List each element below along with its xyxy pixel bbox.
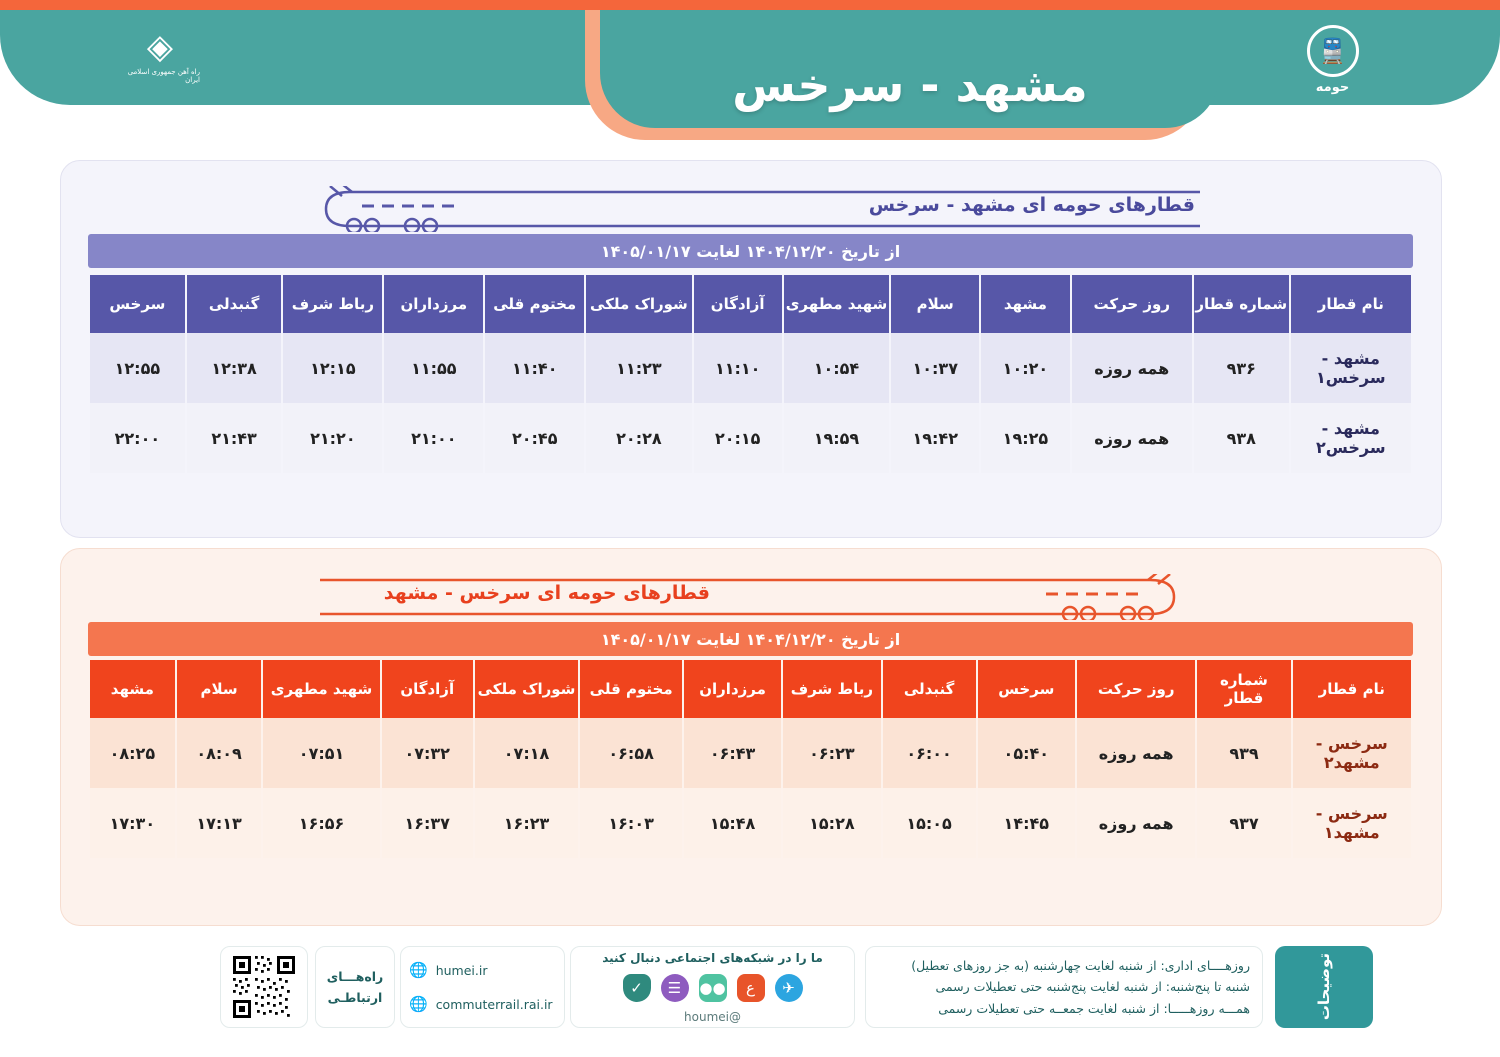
eitaa-icon[interactable]: ع bbox=[737, 974, 765, 1002]
cell-time: ۰۸:۲۵ bbox=[90, 718, 175, 788]
cell-time: ۰۶:۰۰ bbox=[883, 718, 976, 788]
infographic-page: مشهد - سرخس ◈ راه آهن جمهوری اسلامی ایرا… bbox=[0, 0, 1500, 1057]
cell-time: ۰۶:۵۸ bbox=[580, 718, 682, 788]
cell-time: ۲۰:۱۵ bbox=[694, 403, 782, 473]
cell-time: ۱۷:۱۳ bbox=[177, 788, 262, 858]
cell-time: ۱۱:۱۰ bbox=[694, 333, 782, 403]
notes-tab-label: توضیحات bbox=[1275, 946, 1373, 1028]
col-header-station-7: آزادگان bbox=[382, 660, 473, 718]
table-header-row: نام قطار شماره قطار روز حرکت مشهد سلام ش… bbox=[90, 275, 1411, 333]
col-header-train-number: شماره قطار bbox=[1197, 660, 1290, 718]
cell-time: ۱۰:۳۷ bbox=[891, 333, 979, 403]
cell-time: ۰۷:۵۱ bbox=[263, 718, 379, 788]
cell-travel-day: همه روزه bbox=[1072, 333, 1192, 403]
col-header-station-2: سلام bbox=[891, 275, 979, 333]
social-caption: ما را در شبکه‌های اجتماعی دنبال کنید bbox=[602, 951, 823, 965]
col-header-station-5: شوراک ملکی bbox=[586, 275, 691, 333]
cell-train-name: مشهد - سرخس۲ bbox=[1291, 403, 1411, 473]
section-title-sarakhs-mashhad: قطارهای حومه ای سرخس - مشهد bbox=[384, 582, 710, 604]
note-line-office-days: روزهــــای اداری: از شنبه لغایت چهارشنبه… bbox=[878, 958, 1250, 973]
cell-travel-day: همه روزه bbox=[1077, 718, 1195, 788]
notes-tab-text: توضیحات bbox=[1315, 953, 1333, 1020]
cell-time: ۱۰:۵۴ bbox=[784, 333, 889, 403]
table-row: سرخس - مشهد۲ ۹۳۹ همه روزه ۰۵:۴۰ ۰۶:۰۰ ۰۶… bbox=[90, 718, 1411, 788]
col-header-station-7: مرزداران bbox=[384, 275, 483, 333]
cell-time: ۱۹:۲۵ bbox=[981, 403, 1069, 473]
website-url-2: commuterrail.rai.ir bbox=[436, 997, 553, 1012]
cell-time: ۲۱:۴۳ bbox=[187, 403, 282, 473]
cell-travel-day: همه روزه bbox=[1072, 403, 1192, 473]
notes-box: روزهــــای اداری: از شنبه لغایت چهارشنبه… bbox=[865, 946, 1263, 1028]
train-circle-icon: 🚆 bbox=[1307, 25, 1359, 77]
col-header-travel-day: روز حرکت bbox=[1077, 660, 1195, 718]
col-header-station-3: شهید مطهری bbox=[784, 275, 889, 333]
cell-time: ۱۵:۰۵ bbox=[883, 788, 976, 858]
contact-ways-label: راه‌هـــای ارتباطـی bbox=[315, 946, 395, 1028]
qr-code-box[interactable] bbox=[220, 946, 308, 1028]
col-header-station-8: شهید مطهری bbox=[263, 660, 379, 718]
cell-time: ۲۱:۲۰ bbox=[283, 403, 382, 473]
col-header-train-number: شماره قطار bbox=[1194, 275, 1289, 333]
cell-time: ۱۴:۴۵ bbox=[978, 788, 1075, 858]
col-header-station-9: سلام bbox=[177, 660, 262, 718]
cell-time: ۲۰:۲۸ bbox=[586, 403, 691, 473]
cell-train-number: ۹۳۹ bbox=[1197, 718, 1290, 788]
qr-code-icon bbox=[231, 954, 297, 1020]
cell-time: ۲۰:۴۵ bbox=[485, 403, 584, 473]
col-header-station-6: مختوم قلی bbox=[485, 275, 584, 333]
col-header-station-1: سرخس bbox=[978, 660, 1075, 718]
bale-icon[interactable]: ●● bbox=[699, 974, 727, 1002]
cell-time: ۱۵:۴۸ bbox=[684, 788, 781, 858]
footer: توضیحات روزهــــای اداری: از شنبه لغایت … bbox=[60, 938, 1442, 1043]
cell-time: ۲۲:۰۰ bbox=[90, 403, 185, 473]
table-row: مشهد - سرخس۲ ۹۳۸ همه روزه ۱۹:۲۵ ۱۹:۴۲ ۱۹… bbox=[90, 403, 1411, 473]
telegram-icon[interactable]: ✈ bbox=[775, 974, 803, 1002]
cell-time: ۱۷:۳۰ bbox=[90, 788, 175, 858]
cell-time: ۰۶:۲۳ bbox=[783, 718, 880, 788]
col-header-station-8: رباط شرف bbox=[283, 275, 382, 333]
schedule-table-mashhad-sarakhs: نام قطار شماره قطار روز حرکت مشهد سلام ش… bbox=[88, 275, 1413, 473]
cell-time: ۱۲:۱۵ bbox=[283, 333, 382, 403]
rai-logo: ◈ راه آهن جمهوری اسلامی ایران bbox=[120, 22, 200, 92]
page-title: مشهد - سرخس bbox=[600, 58, 1220, 112]
cell-train-name: سرخس - مشهد۱ bbox=[1293, 788, 1411, 858]
cell-time: ۱۱:۴۰ bbox=[485, 333, 584, 403]
cell-train-name: مشهد - سرخس۱ bbox=[1291, 333, 1411, 403]
contact-label-line-1: راه‌هـــای bbox=[327, 966, 384, 987]
soroush-icon[interactable]: ✓ bbox=[623, 974, 651, 1002]
table-header-row: نام قطار شماره قطار روز حرکت سرخس گنبدلی… bbox=[90, 660, 1411, 718]
cell-time: ۰۷:۱۸ bbox=[475, 718, 579, 788]
col-header-station-5: مختوم قلی bbox=[580, 660, 682, 718]
col-header-station-2: گنبدلی bbox=[883, 660, 976, 718]
col-header-travel-day: روز حرکت bbox=[1072, 275, 1192, 333]
cell-time: ۱۶:۲۳ bbox=[475, 788, 579, 858]
cell-time: ۲۱:۰۰ bbox=[384, 403, 483, 473]
col-header-station-3: رباط شرف bbox=[783, 660, 880, 718]
cell-train-name: سرخس - مشهد۲ bbox=[1293, 718, 1411, 788]
cell-train-number: ۹۳۸ bbox=[1194, 403, 1289, 473]
header-orange-stripe bbox=[0, 0, 1500, 10]
cell-time: ۰۷:۳۲ bbox=[382, 718, 473, 788]
website-row-1[interactable]: 🌐 humei.ir bbox=[409, 961, 556, 979]
rai-logo-caption: راه آهن جمهوری اسلامی ایران bbox=[120, 68, 200, 84]
note-line-everyday: همـــه روزهـــــا: از شنبه لغایت جمعــه … bbox=[878, 1001, 1250, 1016]
houme-logo: 🚆 حومه bbox=[1285, 20, 1380, 100]
col-header-station-10: مشهد bbox=[90, 660, 175, 718]
col-header-station-6: شوراک ملکی bbox=[475, 660, 579, 718]
globe-icon: 🌐 bbox=[409, 995, 428, 1013]
cell-time: ۱۵:۲۸ bbox=[783, 788, 880, 858]
date-banner-mashhad-sarakhs: از تاریخ ۱۴۰۴/۱۲/۲۰ لغایت ۱۴۰۵/۰۱/۱۷ bbox=[88, 234, 1413, 268]
cell-train-number: ۹۳۶ bbox=[1194, 333, 1289, 403]
cell-time: ۱۲:۳۸ bbox=[187, 333, 282, 403]
cell-travel-day: همه روزه bbox=[1077, 788, 1195, 858]
note-line-sat-thu: شنبه تا پنج‌شنبه: از شنبه لغایت پنج‌شنبه… bbox=[878, 979, 1250, 994]
cell-time: ۱۶:۰۳ bbox=[580, 788, 682, 858]
website-url-1: humei.ir bbox=[436, 963, 488, 978]
rai-emblem-icon: ◈ bbox=[147, 30, 173, 64]
schedule-table-sarakhs-mashhad: نام قطار شماره قطار روز حرکت سرخس گنبدلی… bbox=[88, 660, 1413, 858]
col-header-station-4: آزادگان bbox=[694, 275, 782, 333]
date-banner-sarakhs-mashhad: از تاریخ ۱۴۰۴/۱۲/۲۰ لغایت ۱۴۰۵/۰۱/۱۷ bbox=[88, 622, 1413, 656]
cell-time: ۱۶:۳۷ bbox=[382, 788, 473, 858]
col-header-station-10: سرخس bbox=[90, 275, 185, 333]
houme-logo-caption: حومه bbox=[1316, 80, 1349, 95]
cell-time: ۱۹:۴۲ bbox=[891, 403, 979, 473]
globe-icon: 🌐 bbox=[409, 961, 428, 979]
cell-time: ۱۹:۵۹ bbox=[784, 403, 889, 473]
cell-train-number: ۹۳۷ bbox=[1197, 788, 1290, 858]
cell-time: ۱۱:۵۵ bbox=[384, 333, 483, 403]
table-row: مشهد - سرخس۱ ۹۳۶ همه روزه ۱۰:۲۰ ۱۰:۳۷ ۱۰… bbox=[90, 333, 1411, 403]
col-header-station-4: مرزداران bbox=[684, 660, 781, 718]
cell-time: ۰۸:۰۹ bbox=[177, 718, 262, 788]
col-header-train-name: نام قطار bbox=[1293, 660, 1411, 718]
social-handle: @houmei bbox=[684, 1010, 741, 1024]
website-row-2[interactable]: 🌐 commuterrail.rai.ir bbox=[409, 995, 556, 1013]
cell-time: ۰۵:۴۰ bbox=[978, 718, 1075, 788]
col-header-station-9: گنبدلی bbox=[187, 275, 282, 333]
cell-time: ۰۶:۴۳ bbox=[684, 718, 781, 788]
col-header-station-1: مشهد bbox=[981, 275, 1069, 333]
cell-time: ۱۶:۵۶ bbox=[263, 788, 379, 858]
section-title-mashhad-sarakhs: قطارهای حومه ای مشهد - سرخس bbox=[869, 194, 1195, 216]
cell-time: ۱۱:۲۳ bbox=[586, 333, 691, 403]
social-media-box: ما را در شبکه‌های اجتماعی دنبال کنید ✈ ع… bbox=[570, 946, 855, 1028]
social-icon-row: ✈ ع ●● ☰ ✓ bbox=[623, 974, 803, 1002]
cell-time: ۱۲:۵۵ bbox=[90, 333, 185, 403]
table-row: سرخس - مشهد۱ ۹۳۷ همه روزه ۱۴:۴۵ ۱۵:۰۵ ۱۵… bbox=[90, 788, 1411, 858]
col-header-train-name: نام قطار bbox=[1291, 275, 1411, 333]
cell-time: ۱۰:۲۰ bbox=[981, 333, 1069, 403]
websites-box: 🌐 humei.ir 🌐 commuterrail.rai.ir bbox=[400, 946, 565, 1028]
rubika-icon[interactable]: ☰ bbox=[661, 974, 689, 1002]
contact-label-line-2: ارتباطـی bbox=[328, 987, 383, 1008]
